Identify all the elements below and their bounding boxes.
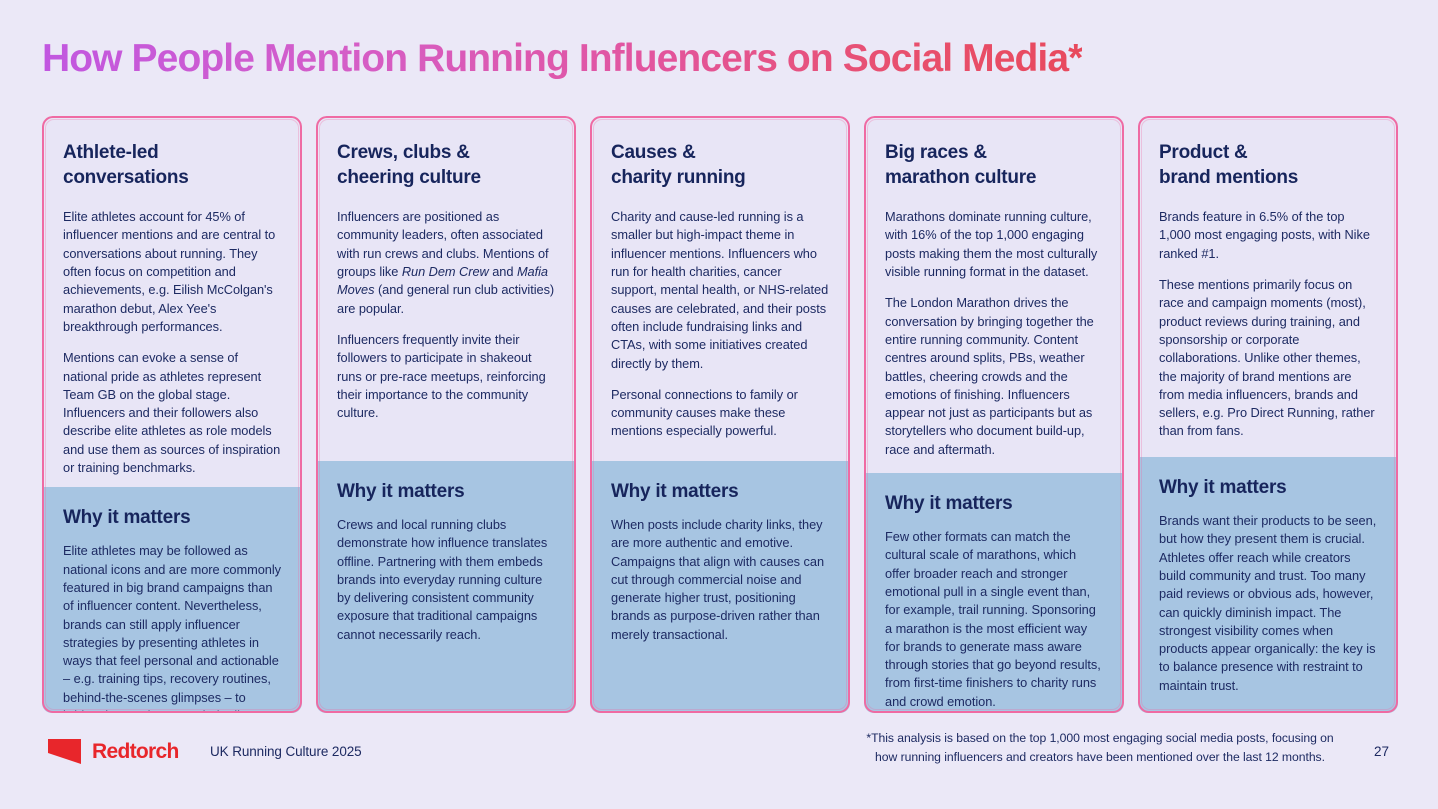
why-it-matters-title: Why it matters: [337, 481, 555, 503]
why-it-matters-section: Why it matters Few other formats can mat…: [864, 473, 1124, 713]
slide-footer: Redtorch UK Running Culture 2025 *This a…: [0, 723, 1438, 809]
card-paragraph: Charity and cause-led running is a small…: [611, 208, 829, 373]
card-paragraph: Elite athletes account for 45% of influe…: [63, 208, 281, 336]
why-it-matters-section: Why it matters Elite athletes may be fol…: [42, 487, 302, 713]
redtorch-flag-icon: [48, 739, 81, 764]
card-top-section: Product & brand mentions Brands feature …: [1138, 116, 1398, 457]
deck-label: UK Running Culture 2025: [210, 744, 362, 759]
theme-card-row: Athlete-led conversations Elite athletes…: [42, 116, 1398, 713]
card-paragraph: Mentions can evoke a sense of national p…: [63, 349, 281, 477]
card-title: Product & brand mentions: [1159, 140, 1377, 190]
why-it-matters-paragraph: Few other formats can match the cultural…: [885, 528, 1103, 711]
why-it-matters-paragraph: Brands want their products to be seen, b…: [1159, 512, 1377, 695]
card-paragraph: Brands feature in 6.5% of the top 1,000 …: [1159, 208, 1377, 263]
why-it-matters-section: Why it matters Brands want their product…: [1138, 457, 1398, 713]
why-it-matters-body: Elite athletes may be followed as nation…: [63, 542, 281, 713]
why-it-matters-paragraph: Elite athletes may be followed as nation…: [63, 542, 281, 713]
card-top-section: Athlete-led conversations Elite athletes…: [42, 116, 302, 487]
why-it-matters-title: Why it matters: [63, 507, 281, 529]
card-title: Crews, clubs & cheering culture: [337, 140, 555, 190]
why-it-matters-section: Why it matters When posts include charit…: [590, 461, 850, 713]
theme-card-causes-charity[interactable]: Causes & charity running Charity and cau…: [590, 116, 850, 713]
why-it-matters-body: When posts include charity links, they a…: [611, 516, 829, 644]
theme-card-athlete-led[interactable]: Athlete-led conversations Elite athletes…: [42, 116, 302, 713]
card-body: Brands feature in 6.5% of the top 1,000 …: [1159, 208, 1377, 441]
card-paragraph: Marathons dominate running culture, with…: [885, 208, 1103, 281]
card-body: Elite athletes account for 45% of influe…: [63, 208, 281, 477]
card-top-section: Big races & marathon culture Marathons d…: [864, 116, 1124, 473]
why-it-matters-title: Why it matters: [611, 481, 829, 503]
card-top-section: Crews, clubs & cheering culture Influenc…: [316, 116, 576, 461]
page-title: How People Mention Running Influencers o…: [42, 38, 1082, 81]
card-paragraph: Influencers are positioned as community …: [337, 208, 555, 318]
why-it-matters-paragraph: Crews and local running clubs demonstrat…: [337, 516, 555, 644]
theme-card-product-brand[interactable]: Product & brand mentions Brands feature …: [1138, 116, 1398, 713]
theme-card-big-races[interactable]: Big races & marathon culture Marathons d…: [864, 116, 1124, 713]
why-it-matters-title: Why it matters: [885, 493, 1103, 515]
why-it-matters-body: Few other formats can match the cultural…: [885, 528, 1103, 711]
why-it-matters-body: Brands want their products to be seen, b…: [1159, 512, 1377, 695]
card-paragraph: These mentions primarily focus on race a…: [1159, 276, 1377, 441]
why-it-matters-title: Why it matters: [1159, 477, 1377, 499]
slide-root: How People Mention Running Influencers o…: [0, 0, 1438, 809]
card-body: Charity and cause-led running is a small…: [611, 208, 829, 441]
card-top-section: Causes & charity running Charity and cau…: [590, 116, 850, 461]
card-body: Influencers are positioned as community …: [337, 208, 555, 422]
brand-lockup: Redtorch: [48, 739, 179, 764]
brand-name: Redtorch: [92, 740, 179, 764]
why-it-matters-body: Crews and local running clubs demonstrat…: [337, 516, 555, 644]
card-paragraph: The London Marathon drives the conversat…: [885, 294, 1103, 459]
why-it-matters-paragraph: When posts include charity links, they a…: [611, 516, 829, 644]
card-title: Athlete-led conversations: [63, 140, 281, 190]
card-title: Big races & marathon culture: [885, 140, 1103, 190]
theme-card-crews-clubs[interactable]: Crews, clubs & cheering culture Influenc…: [316, 116, 576, 713]
card-body: Marathons dominate running culture, with…: [885, 208, 1103, 459]
card-paragraph: Influencers frequently invite their foll…: [337, 331, 555, 422]
page-number: 27: [1374, 744, 1389, 759]
footnote: *This analysis is based on the top 1,000…: [860, 729, 1340, 766]
why-it-matters-section: Why it matters Crews and local running c…: [316, 461, 576, 713]
card-paragraph: Personal connections to family or commun…: [611, 386, 829, 441]
card-title: Causes & charity running: [611, 140, 829, 190]
